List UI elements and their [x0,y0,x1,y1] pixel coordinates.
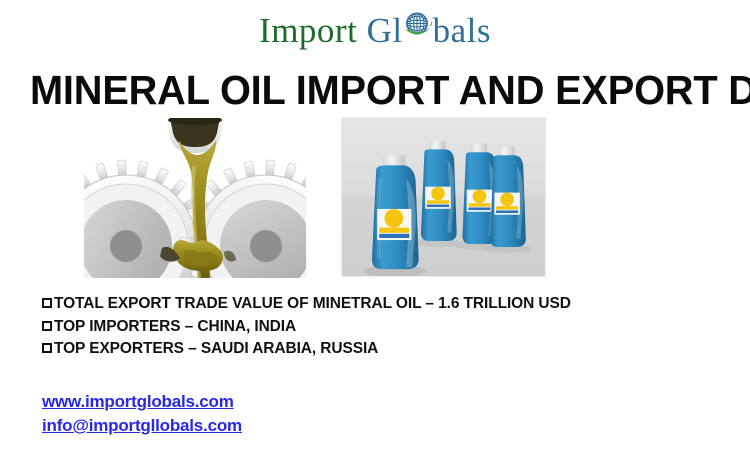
square-bullet-icon [42,321,52,331]
list-item: TOTAL EXPORT TRADE VALUE OF MINETRAL OIL… [42,293,722,316]
logo-text-import: Import [259,11,357,50]
square-bullet-icon [42,298,52,308]
list-item: TOP IMPORTERS – CHINA, INDIA [42,316,722,339]
logo-text-bals: bals [433,11,491,50]
email-link[interactable]: info@importgllobals.com [42,414,242,438]
page-title: MINERAL OIL IMPORT AND EXPORT DATA [30,68,709,112]
poster-page: Import Gl [0,0,750,450]
list-item-label: TOP EXPORTERS – SAUDI ARABIA, RUSSIA [54,340,378,357]
list-item-label: TOTAL EXPORT TRADE VALUE OF MINETRAL OIL… [54,295,571,312]
contact-links: www.importglobals.com info@importgllobal… [42,390,242,438]
highlights-list: TOTAL EXPORT TRADE VALUE OF MINETRAL OIL… [42,293,722,361]
brand-logo[interactable]: Import Gl [0,8,750,54]
list-item: TOP EXPORTERS – SAUDI ARABIA, RUSSIA [42,338,722,361]
square-bullet-icon [42,343,52,353]
gears-with-oil-photo [84,118,306,278]
logo-space [357,11,366,50]
list-item-label: TOP IMPORTERS – CHINA, INDIA [54,318,296,335]
oil-bottles-photo [341,117,546,277]
website-link[interactable]: www.importglobals.com [42,390,242,414]
globe-icon [402,9,434,41]
logo-text-gl: Gl [367,11,403,50]
